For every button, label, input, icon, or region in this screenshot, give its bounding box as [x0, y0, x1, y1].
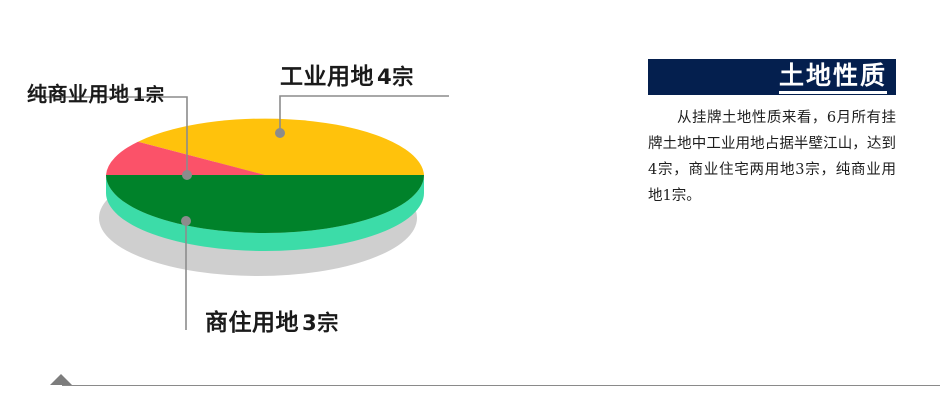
info-panel-body: 从挂牌土地性质来看，6月所有挂牌土地中工业用地占据半壁江山，达到4宗，商业住宅两…: [648, 105, 896, 209]
pie-label-mixed-text: 商住用地: [205, 310, 299, 336]
leader-dot-industrial: [275, 128, 285, 138]
pie-label-mixed: 商住用地3宗: [205, 303, 339, 337]
footer-arrow-icon: [50, 374, 72, 385]
pie-label-pure-commercial-value: 1宗: [130, 85, 165, 106]
leader-dot-pure-commercial: [182, 170, 192, 180]
pie-label-pure-commercial-text: 纯商业用地: [27, 82, 130, 106]
pie-label-mixed-value: 3宗: [299, 310, 339, 335]
pie-label-pure-commercial: 纯商业用地1宗: [27, 78, 165, 107]
pie-label-industrial: 工业用地4宗: [280, 57, 414, 91]
pie-label-industrial-text: 工业用地: [280, 64, 374, 90]
pie-chart-panel: 纯商业用地1宗 工业用地4宗 商住用地3宗: [0, 0, 600, 360]
info-panel-title: 土地性质: [779, 62, 887, 94]
footer-divider: [62, 385, 940, 386]
info-panel-title-bar: 土地性质: [648, 59, 896, 95]
leader-dot-mixed: [181, 216, 191, 226]
info-panel: 土地性质 从挂牌土地性质来看，6月所有挂牌土地中工业用地占据半壁江山，达到4宗，…: [648, 59, 896, 224]
pie-label-industrial-value: 4宗: [374, 64, 414, 89]
